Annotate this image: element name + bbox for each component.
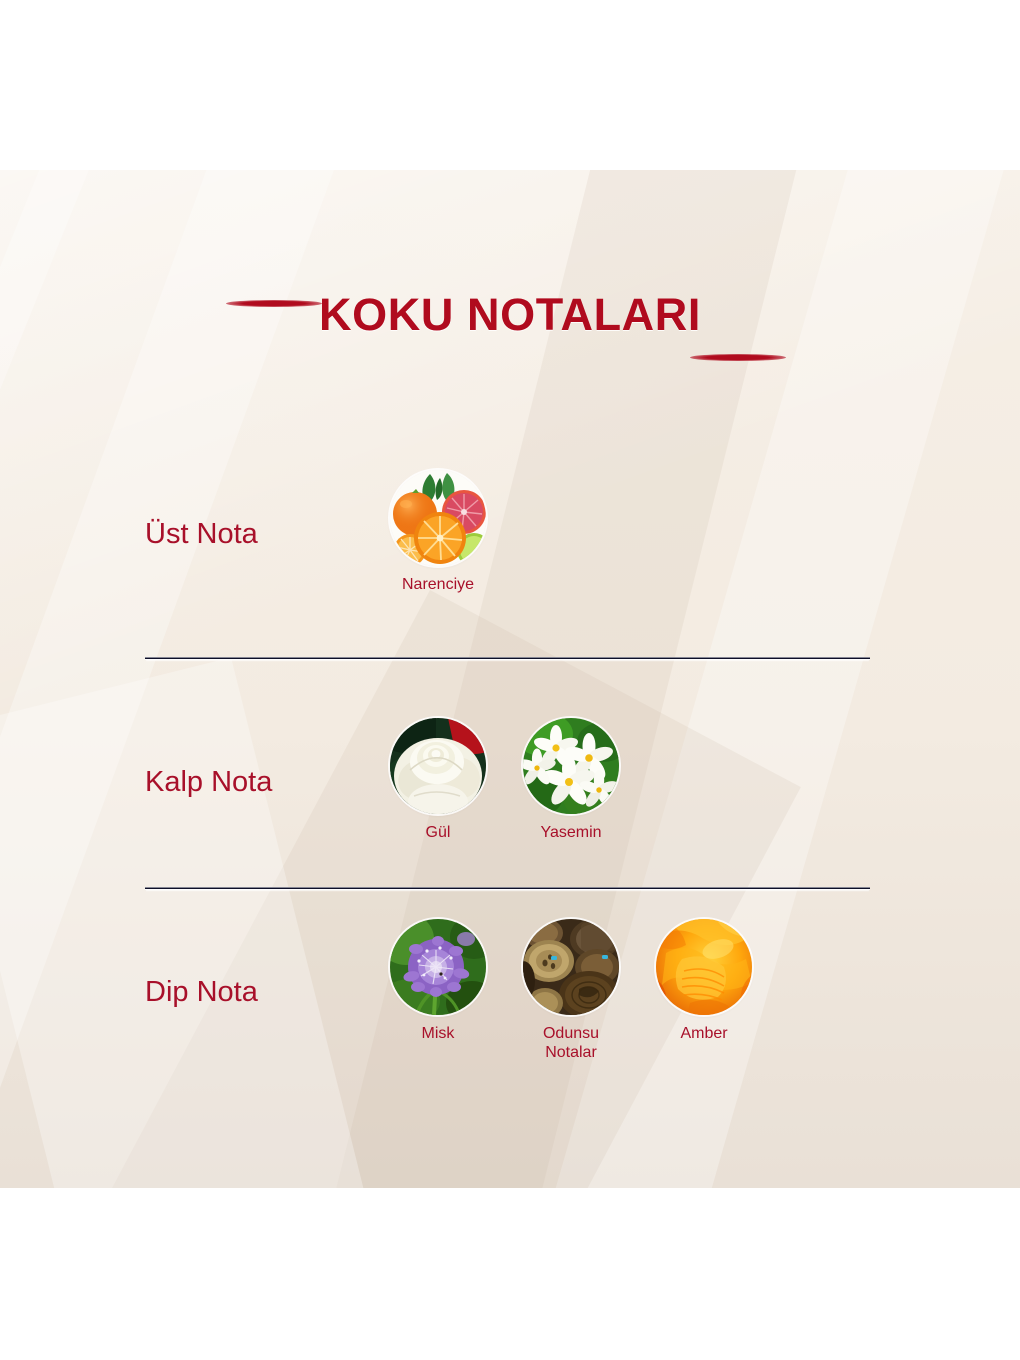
note-row-label-base: Dip Nota bbox=[145, 971, 390, 1009]
note-row-base: Dip Nota bbox=[145, 900, 875, 1080]
note-row-heart: Kalp Nota bbox=[145, 700, 875, 860]
ingredient-label: Yasemin bbox=[540, 823, 601, 842]
ingredient-yasemin[interactable]: Yasemin bbox=[523, 718, 619, 842]
ingredient-odunsu-notalar[interactable]: Odunsu Notalar bbox=[523, 919, 619, 1062]
ingredient-narenciye[interactable]: Narenciye bbox=[390, 470, 486, 594]
citrus-fruit-image-icon bbox=[390, 470, 486, 566]
jasmine-flower-image-icon bbox=[523, 718, 619, 814]
note-row-top: Üst Nota bbox=[145, 452, 875, 612]
ingredient-list-top: Narenciye bbox=[390, 470, 486, 594]
fragrance-notes-infographic: KOKU NOTALARI Üst Nota bbox=[0, 0, 1020, 1360]
page-title: KOKU NOTALARI bbox=[0, 282, 1020, 348]
ingredient-label: Misk bbox=[422, 1024, 455, 1043]
stacked-logs-image-icon bbox=[523, 919, 619, 1015]
note-row-label-heart: Kalp Nota bbox=[145, 761, 390, 799]
section-divider bbox=[145, 657, 870, 660]
page-title-block: KOKU NOTALARI bbox=[0, 282, 1020, 368]
amber-resin-image-icon bbox=[656, 919, 752, 1015]
note-row-label-top: Üst Nota bbox=[145, 513, 390, 551]
title-decoration-right-icon bbox=[690, 354, 786, 361]
ingredient-list-heart: Gül bbox=[390, 718, 619, 842]
section-divider bbox=[145, 887, 870, 890]
ingredient-gul[interactable]: Gül bbox=[390, 718, 486, 842]
ingredient-label: Gül bbox=[426, 823, 451, 842]
ingredient-label: Narenciye bbox=[402, 575, 474, 594]
ingredient-list-base: Misk bbox=[390, 919, 752, 1062]
ingredient-label: Amber bbox=[680, 1024, 727, 1043]
purple-scabiosa-flower-image-icon bbox=[390, 919, 486, 1015]
ingredient-amber[interactable]: Amber bbox=[656, 919, 752, 1043]
ingredient-misk[interactable]: Misk bbox=[390, 919, 486, 1043]
white-rose-image-icon bbox=[390, 718, 486, 814]
ingredient-label: Odunsu Notalar bbox=[543, 1024, 599, 1062]
